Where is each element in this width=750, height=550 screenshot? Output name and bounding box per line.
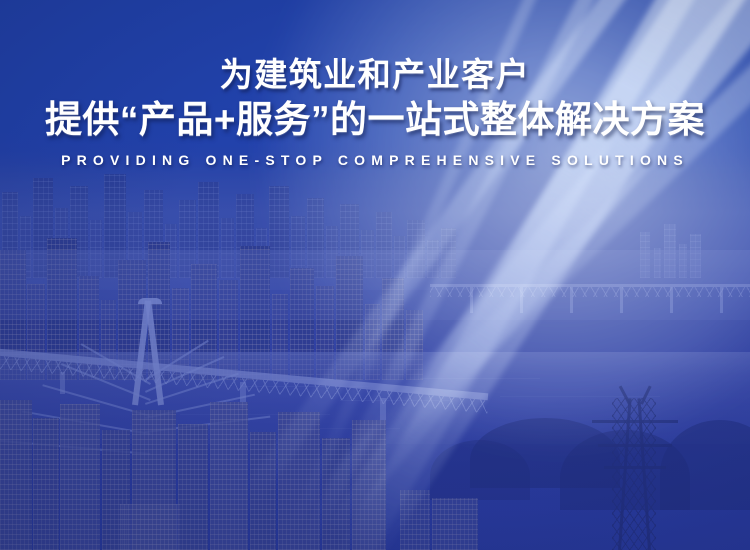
headline-block: 为建筑业和产业客户 提供“产品+服务”的一站式整体解决方案 PROVIDING …: [0, 0, 750, 169]
headline-subtitle: PROVIDING ONE-STOP COMPREHENSIVE SOLUTIO…: [0, 142, 750, 169]
hero-banner: 为建筑业和产业客户 提供“产品+服务”的一站式整体解决方案 PROVIDING …: [0, 0, 750, 550]
headline-line-2: 提供“产品+服务”的一站式整体解决方案: [0, 94, 750, 142]
headline-line-1: 为建筑业和产业客户: [0, 0, 750, 94]
